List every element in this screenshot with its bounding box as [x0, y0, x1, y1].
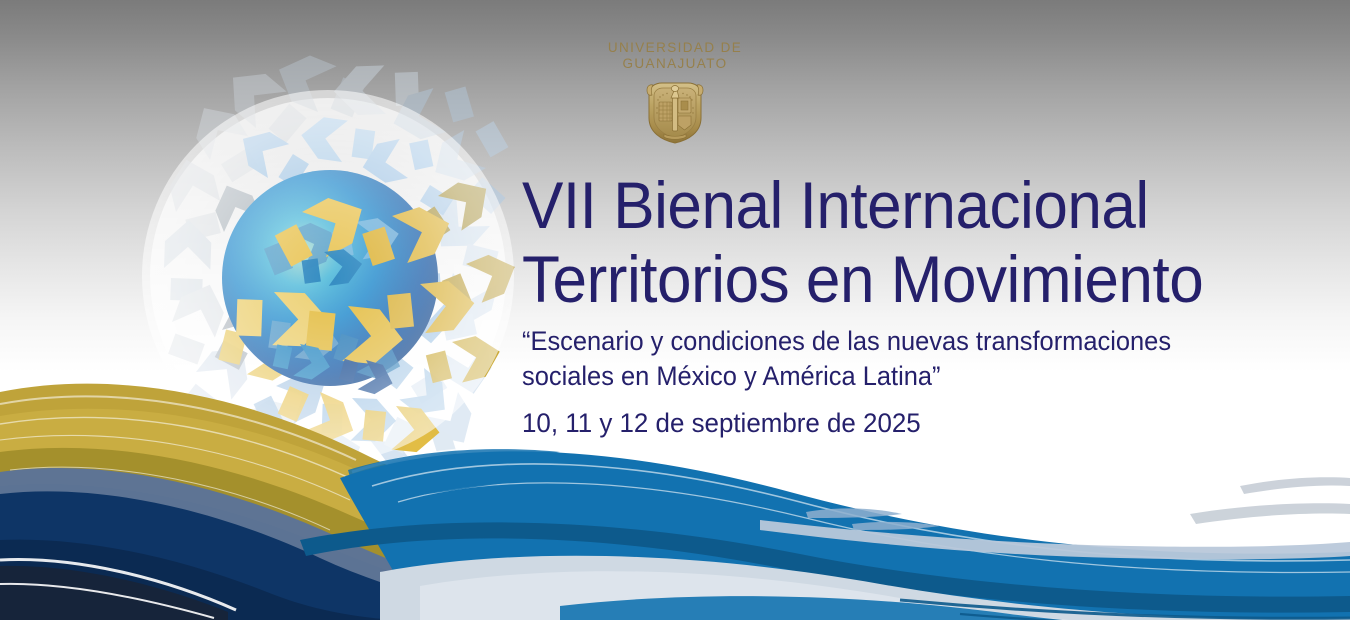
university-lockup: UNIVERSIDAD DE GUANAJUATO [0, 40, 1350, 149]
event-title-line2: Territorios en Movimiento [522, 242, 1199, 316]
event-dates: 10, 11 y 12 de septiembre de 2025 [522, 407, 1213, 439]
university-name-line2: GUANAJUATO [0, 56, 1350, 72]
poster-canvas: UNIVERSIDAD DE GUANAJUATO [0, 0, 1350, 620]
event-title-line1: VII Bienal Internacional [522, 168, 1199, 242]
university-name: UNIVERSIDAD DE GUANAJUATO [0, 40, 1350, 72]
event-subtitle-line2: sociales en México y América Latina” [522, 359, 1213, 394]
event-subtitle: “Escenario y condiciones de las nuevas t… [522, 324, 1213, 394]
event-subtitle-line1: “Escenario y condiciones de las nuevas t… [522, 324, 1213, 359]
university-name-line1: UNIVERSIDAD DE [608, 40, 742, 55]
university-crest-icon [644, 78, 706, 144]
event-text-block: VII Bienal Internacional Territorios en … [522, 168, 1242, 439]
